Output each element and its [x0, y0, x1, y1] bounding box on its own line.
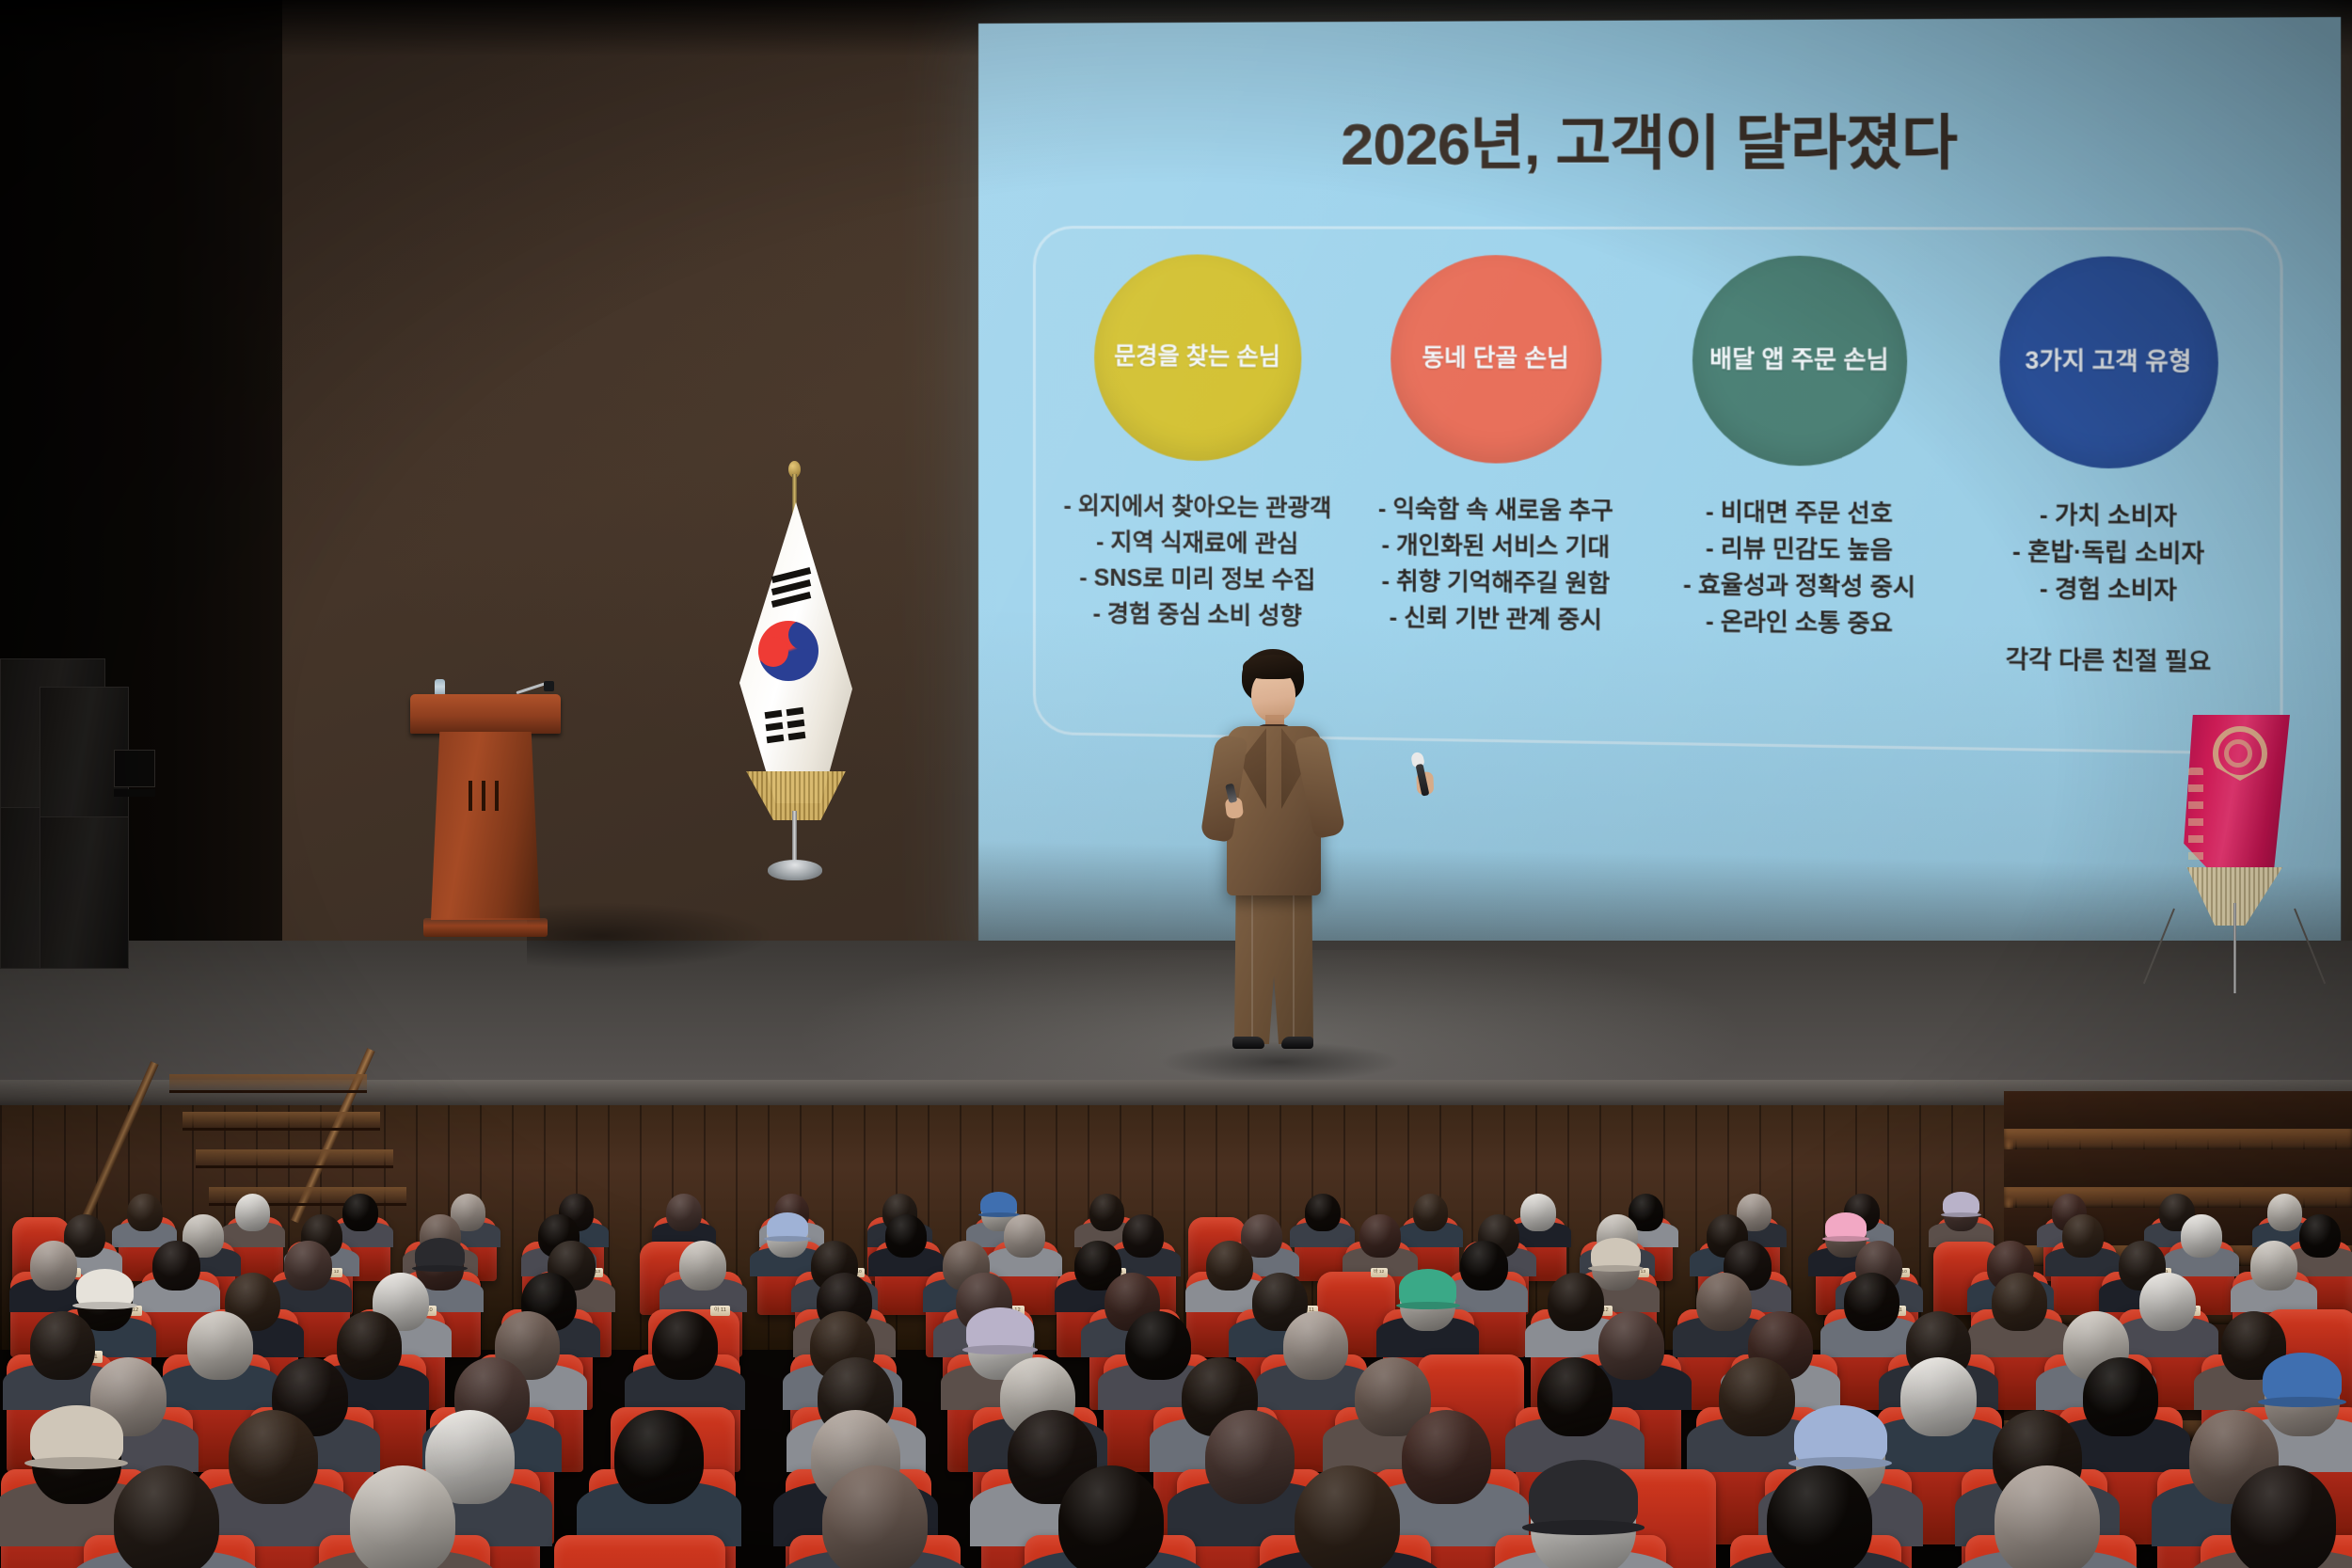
column-4-footer: 각각 다른 친절 필요: [2006, 641, 2211, 678]
audience-cap-brim: [1941, 1212, 1981, 1217]
audience-head: [1205, 1410, 1295, 1504]
audience-head: [2250, 1241, 2297, 1291]
audience-cap-brim: [1588, 1265, 1643, 1272]
audience-head: [342, 1194, 377, 1230]
audience-head: [152, 1241, 199, 1291]
presenter-shoe: [1281, 1037, 1313, 1049]
pa-speaker-port: [114, 789, 155, 797]
audience-head: [1994, 1465, 2100, 1568]
audience-cap-brim: [1522, 1520, 1644, 1535]
audience-head: [1767, 1465, 1872, 1568]
bullet-item: - 온라인 소통 중요: [1683, 603, 1915, 642]
bullet-list-1: - 외지에서 찾아오는 관광객 - 지역 식재료에 관심 - SNS로 미리 정…: [1063, 488, 1331, 635]
audience-head: [2139, 1273, 2195, 1331]
audience-head: [1520, 1194, 1555, 1230]
audience-head: [1058, 1465, 1164, 1568]
audience-head: [187, 1311, 252, 1380]
bullet-list-3: - 비대면 주문 선호 - 리뷰 민감도 높음 - 효율성과 정확성 중시 - …: [1683, 494, 1915, 643]
audience-head: [1537, 1357, 1613, 1437]
audience-head: [284, 1241, 331, 1291]
podium-slot: [482, 781, 485, 811]
bullet-item: - 경험 중심 소비 성향: [1063, 595, 1331, 635]
bullet-item: - 지역 식재료에 관심: [1063, 524, 1331, 562]
bullet-item: - 비대면 주문 선호: [1683, 494, 1915, 532]
mic-head: [544, 681, 554, 691]
circle-badge-3-label: 배달 앱 주문 손님: [1700, 345, 1899, 376]
audience-head: [1598, 1311, 1663, 1380]
circle-badge-1-label: 문경을 찾는 손님: [1104, 342, 1290, 372]
banner-tripod-stand: [2173, 909, 2296, 993]
stair-riser: [2004, 1091, 2352, 1132]
bullet-item: - 효율성과 정확성 중시: [1683, 566, 1915, 606]
audience-head: [1305, 1194, 1340, 1230]
tripod-center-pole: [2233, 903, 2236, 993]
presenter: [1187, 649, 1357, 1058]
audience-head: [885, 1214, 926, 1257]
trouser-crease: [1251, 892, 1253, 1040]
audience-cap-brim: [412, 1265, 467, 1272]
audience-cap-brim: [24, 1457, 128, 1469]
audience-head: [666, 1194, 701, 1230]
stair-riser: [2004, 1149, 2352, 1191]
bullet-item: - 가치 소비자: [2012, 497, 2204, 535]
audience-head: [1206, 1241, 1253, 1291]
audience-head: [337, 1311, 402, 1380]
stair-step: [196, 1149, 393, 1168]
tripod-leg: [2294, 909, 2326, 984]
audience-head: [652, 1311, 717, 1380]
audience-head: [2299, 1214, 2340, 1257]
audience-head: [1004, 1214, 1044, 1257]
audience-cap-brim: [1396, 1302, 1460, 1309]
slide-column-2: 동네 단골 손님 - 익숙함 속 새로움 추구 - 개인화된 서비스 기대 - …: [1351, 255, 1642, 640]
mic-arm: [516, 682, 547, 694]
seat-number-tag: 아 11: [710, 1306, 730, 1316]
podium-body: [431, 732, 540, 920]
bullet-list-2: - 익숙함 속 새로움 추구 - 개인화된 서비스 기대 - 취향 기억해주길 …: [1378, 491, 1613, 639]
slide-column-3: 배달 앱 주문 손님 - 비대면 주문 선호 - 리뷰 민감도 높음 - 효율성…: [1652, 256, 1947, 643]
audience-head: [235, 1194, 270, 1230]
projection-screen: 2026년, 고객이 달라졌다 문경을 찾는 손님 - 외지에서 찾아오는 관광…: [978, 24, 2333, 992]
audience-head: [30, 1311, 95, 1380]
audience-head: [350, 1465, 455, 1568]
stair-step: [183, 1112, 380, 1131]
audience-head: [2083, 1357, 2159, 1437]
presenter-trousers: [1234, 882, 1313, 1044]
banner-emblem-inner-icon: [2224, 739, 2252, 768]
stair-step: [169, 1074, 367, 1093]
bullet-item: - 개인화된 서비스 기대: [1378, 527, 1613, 565]
trouser-crease: [1293, 892, 1295, 1040]
podium-top: [410, 694, 561, 734]
projected-slide: 2026년, 고객이 달라졌다 문경을 찾는 손님 - 외지에서 찾아오는 관광…: [978, 17, 2341, 1016]
bullet-item: - 리뷰 민감도 높음: [1683, 531, 1915, 570]
flag-stand-pole: [792, 811, 797, 865]
audience-head: [614, 1410, 704, 1504]
ceremonial-banner: [2164, 715, 2343, 988]
pa-speaker-cabinet: [40, 687, 129, 818]
presenter-shoe: [1232, 1037, 1264, 1049]
audience-head: [1295, 1465, 1400, 1568]
theater-seat[interactable]: [554, 1535, 726, 1568]
flag-stand-base: [768, 860, 822, 880]
audience-head: [2181, 1214, 2221, 1257]
audience-head: [1548, 1273, 1603, 1331]
seat-number-tag: 바 12: [1371, 1268, 1388, 1277]
podium-base: [423, 918, 548, 937]
circle-badge-4-label: 3가지 고객 유형: [2015, 347, 2201, 378]
bullet-item: - 취향 기억해주길 원함: [1378, 563, 1613, 603]
audience-cap-brim: [2258, 1397, 2346, 1407]
bullet-item: - 신뢰 기반 관계 중시: [1378, 599, 1613, 639]
audience-cap-brim: [1822, 1236, 1869, 1242]
podium-slot: [469, 781, 472, 811]
audience-head: [1359, 1214, 1400, 1257]
circle-badge-2-label: 동네 단골 손님: [1412, 344, 1579, 375]
pa-speaker-port: [114, 750, 155, 787]
circle-badge-3: 배달 앱 주문 손님: [1692, 256, 1906, 467]
podium-slot-group: [469, 781, 506, 811]
pa-speaker-cabinet: [40, 816, 129, 969]
taeguk-symbol-icon: [758, 621, 818, 681]
bullet-item: - 경험 소비자: [2012, 570, 2204, 610]
audience-head: [1719, 1357, 1795, 1437]
bullet-item: - 외지에서 찾아오는 관광객: [1063, 488, 1331, 527]
audience-head: [1089, 1194, 1124, 1230]
audience-head: [127, 1194, 162, 1230]
circle-badge-2: 동네 단골 손님: [1391, 255, 1601, 465]
banner-embroidered-text: [2188, 768, 2203, 867]
korean-flag: [734, 461, 856, 903]
slide-title: 2026년, 고객이 달라졌다: [978, 93, 2341, 182]
auditorium-scene: 2026년, 고객이 달라졌다 문경을 찾는 손님 - 외지에서 찾아오는 관광…: [0, 0, 2352, 1568]
bullet-item: - 혼밥·독립 소비자: [2012, 533, 2204, 572]
circle-badge-4: 3가지 고객 유형: [1999, 256, 2217, 469]
audience-head: [1125, 1311, 1190, 1380]
audience-head: [1413, 1194, 1448, 1230]
audience-area: 마 11마 12마 13바 10바 11바 12바 13사 10사 11사 12…: [0, 1204, 2352, 1568]
audience-head: [822, 1465, 928, 1568]
slide-content: 2026년, 고객이 달라졌다 문경을 찾는 손님 - 외지에서 찾아오는 관광…: [978, 17, 2341, 1016]
audience-head: [1844, 1273, 1899, 1331]
audience-head: [1696, 1273, 1752, 1331]
audience-head: [1992, 1273, 2047, 1331]
audience-cap-brim: [72, 1302, 136, 1309]
audience-head: [1283, 1311, 1348, 1380]
bullet-list-4: - 가치 소비자 - 혼밥·독립 소비자 - 경험 소비자: [2012, 497, 2204, 610]
audience-head: [1460, 1241, 1507, 1291]
audience-head: [1402, 1410, 1491, 1504]
podium-shadow: [527, 903, 771, 969]
audience-head: [2267, 1194, 2302, 1230]
audience-head: [114, 1465, 219, 1568]
slide-column-4: 3가지 고객 유형 - 가치 소비자 - 혼밥·독립 소비자 - 경험 소비자 …: [1959, 256, 2260, 678]
podium: [410, 694, 561, 950]
slide-column-1: 문경을 찾는 손님 - 외지에서 찾아오는 관광객 - 지역 식재료에 관심 -…: [1055, 254, 1340, 635]
bullet-item: - 익숙함 속 새로움 추구: [1378, 491, 1613, 530]
podium-slot: [495, 781, 499, 811]
audience-head: [1900, 1357, 1977, 1437]
bullet-item: - SNS로 미리 정보 수집: [1063, 560, 1331, 599]
audience-head: [679, 1241, 726, 1291]
audience-head: [229, 1410, 318, 1504]
audience-head: [2062, 1214, 2103, 1257]
audience-cap-brim: [764, 1236, 811, 1242]
audience-head: [30, 1241, 77, 1291]
pa-speaker-stack: [0, 658, 141, 969]
audience-cap-brim: [962, 1345, 1038, 1354]
circle-badge-1: 문경을 찾는 손님: [1094, 254, 1301, 462]
audience-head: [2231, 1465, 2336, 1568]
audience-head: [1122, 1214, 1163, 1257]
presenter-bangs: [1243, 655, 1303, 679]
